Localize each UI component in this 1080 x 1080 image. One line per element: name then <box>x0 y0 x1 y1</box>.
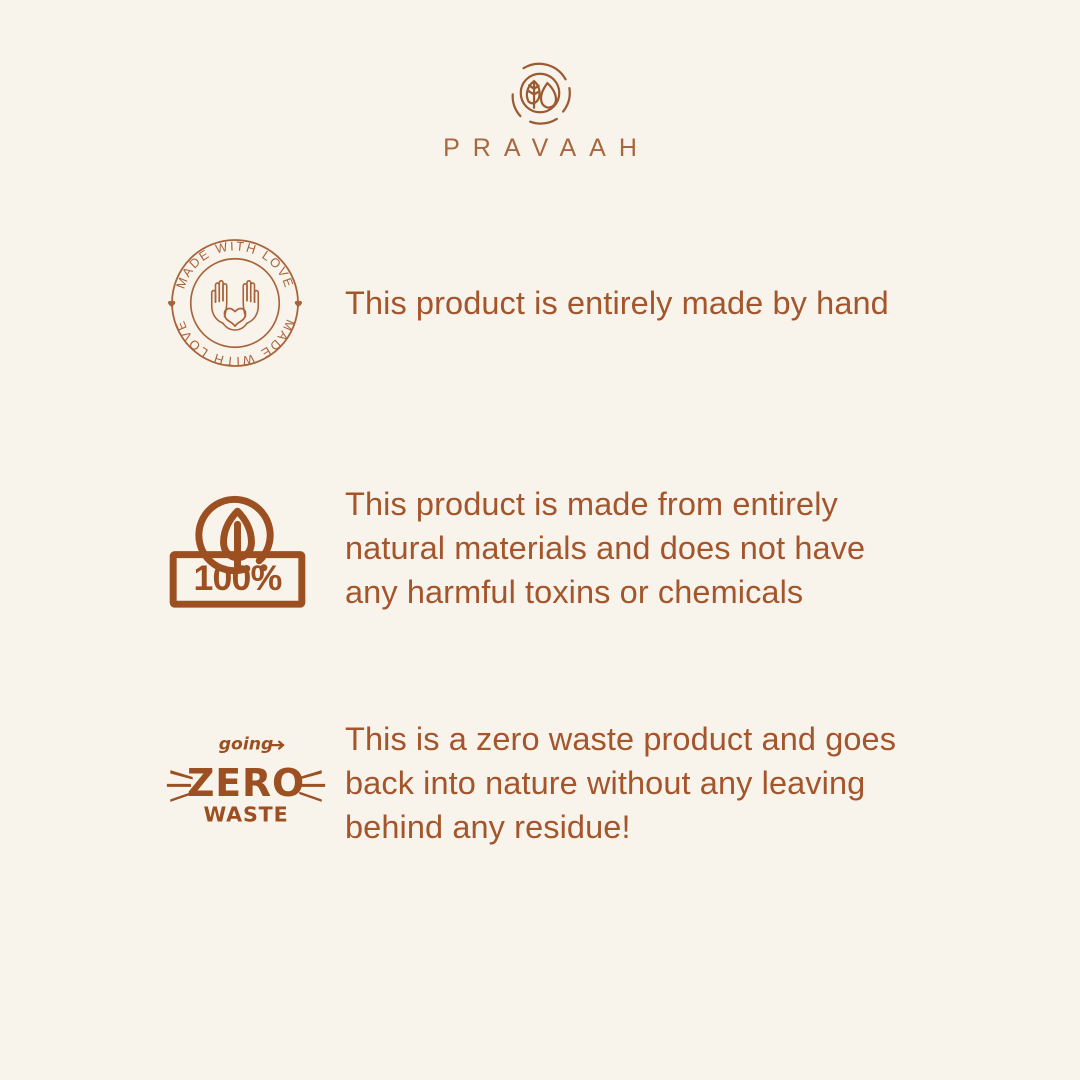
feature-row-handmade: MADE WITH LOVE MADE WITH LOVE <box>0 228 1080 378</box>
hundred-percent-natural-leaf-icon: 100% <box>160 480 340 616</box>
feature-row-zero-waste: going ZERO <box>0 708 1080 858</box>
svg-text:MADE WITH LOVE: MADE WITH LOVE <box>173 238 298 290</box>
svg-text:going: going <box>219 734 274 754</box>
brand-wordmark: PRAVAAH <box>430 134 650 163</box>
svg-text:WASTE: WASTE <box>203 803 288 827</box>
feature-line: behind any residue! <box>345 805 896 849</box>
feature-line: natural materials and does not have <box>345 526 865 570</box>
brand-header: PRAVAAH <box>0 58 1080 163</box>
going-zero-waste-badge-icon: going ZERO <box>160 727 340 839</box>
feature-line: back into nature without any leaving <box>345 761 896 805</box>
feature-line: This product is entirely made by hand <box>345 281 889 325</box>
feature-line: This is a zero waste product and goes <box>345 717 896 761</box>
made-with-love-badge-icon: MADE WITH LOVE MADE WITH LOVE <box>160 228 340 378</box>
feature-line: any harmful toxins or chemicals <box>345 570 865 614</box>
feature-list: MADE WITH LOVE MADE WITH LOVE <box>0 228 1080 858</box>
feature-row-natural: 100% This product is made from entirely … <box>0 473 1080 623</box>
feature-text-zero-waste: This is a zero waste product and goes ba… <box>340 717 896 849</box>
leaf-waterdrop-circle-logo-icon <box>505 58 575 128</box>
feature-text-handmade: This product is entirely made by hand <box>340 281 889 325</box>
feature-text-natural: This product is made from entirely natur… <box>340 482 865 614</box>
svg-text:100%: 100% <box>193 558 281 598</box>
svg-text:ZERO: ZERO <box>187 761 305 805</box>
feature-line: This product is made from entirely <box>345 482 865 526</box>
